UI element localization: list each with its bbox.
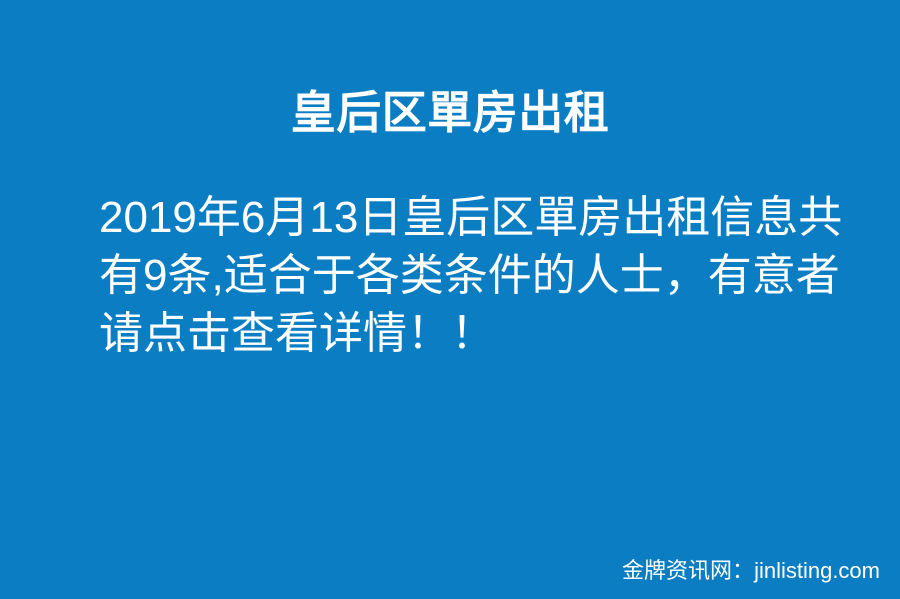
body-line-1: 2019年6月13日皇后区單房出租信息共	[99, 189, 819, 247]
body-line-3: 请点击查看详情！！	[99, 305, 819, 363]
watermark-site-label: 金牌资讯网：	[622, 557, 754, 585]
page-title: 皇后区單房出租	[0, 84, 900, 142]
body-copy: 2019年6月13日皇后区單房出租信息共 有9条,适合于各类条件的人士，有意者 …	[99, 189, 819, 363]
watermark-domain: jinlisting.com	[754, 557, 880, 585]
promo-banner: 皇后区單房出租 2019年6月13日皇后区單房出租信息共 有9条,适合于各类条件…	[0, 0, 900, 599]
body-line-2: 有9条,适合于各类条件的人士，有意者	[99, 247, 819, 305]
watermark: 金牌资讯网： jinlisting.com	[622, 557, 880, 585]
